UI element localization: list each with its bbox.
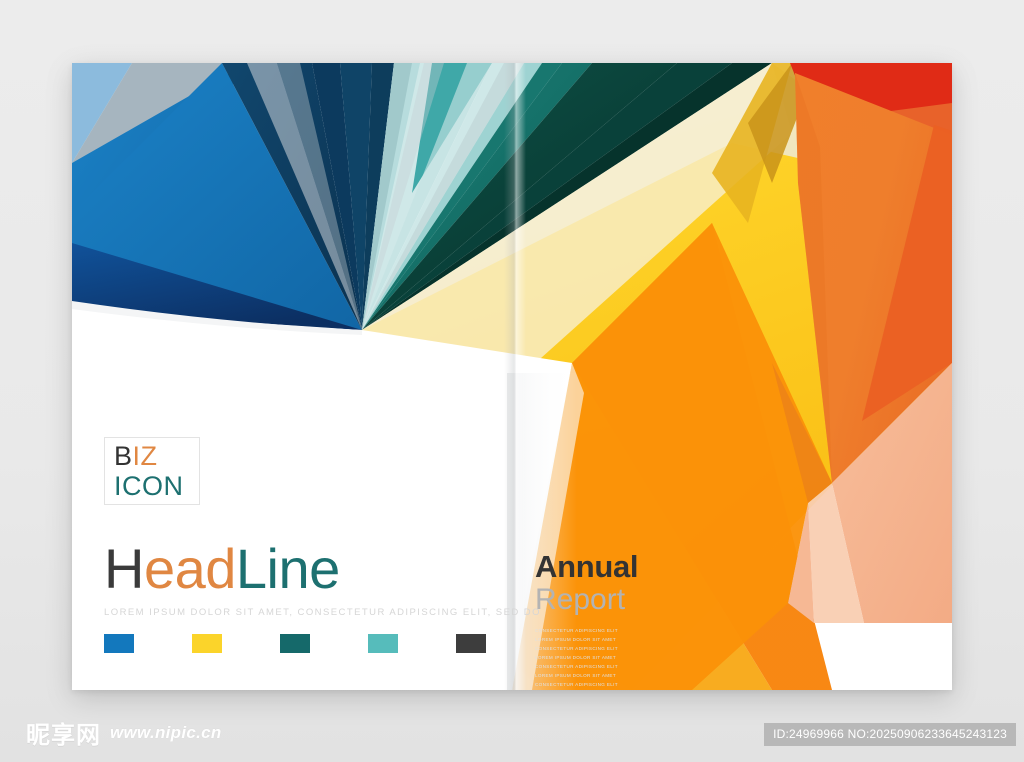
logo-line-biz: BIZ (114, 443, 158, 470)
logo-letters-iz: IZ (133, 441, 158, 471)
site-watermark: 昵享网 www.nipic.cn (26, 715, 222, 750)
swatch-light-teal[interactable] (368, 634, 398, 653)
body-line: Lorem ipsum dolor sit amet (535, 672, 865, 681)
body-line: Consectetur adipiscing elit (535, 645, 865, 654)
headline-part-line: Line (236, 537, 340, 600)
brochure-spread: BIZ ICON HeadLine Lorem ipsum dolor sit … (72, 63, 952, 690)
body-line: Consectetur adipiscing elit (535, 627, 865, 636)
biz-icon-logo[interactable]: BIZ ICON (104, 435, 214, 511)
body-line: Lorem ipsum dolor sit amet (535, 636, 865, 645)
swatch-yellow[interactable] (192, 634, 222, 653)
headline-part-ead: ead (144, 537, 236, 600)
swatch-teal[interactable] (280, 634, 310, 653)
right-page-content: Annual Report Consectetur adipiscing eli… (535, 551, 865, 690)
content-layer: BIZ ICON HeadLine Lorem ipsum dolor sit … (72, 63, 952, 690)
left-page-content: BIZ ICON HeadLine Lorem ipsum dolor sit … (104, 435, 504, 653)
body-line: Lorem ipsum dolor sit amet (535, 654, 865, 663)
color-swatch-row (104, 634, 504, 653)
body-line: Consectetur adipiscing elit (535, 663, 865, 672)
swatch-blue[interactable] (104, 634, 134, 653)
page-backdrop: BIZ ICON HeadLine Lorem ipsum dolor sit … (0, 0, 1024, 762)
headline-subtitle: Lorem ipsum dolor sit amet, consectetur … (104, 607, 504, 618)
logo-letter-b: B (114, 441, 133, 471)
report-subtitle: Report (535, 584, 865, 616)
swatch-charcoal[interactable] (456, 634, 486, 653)
logo-line-icon: ICON (114, 473, 184, 500)
headline-part-h: H (104, 537, 144, 600)
headline: HeadLine (104, 541, 504, 597)
watermark-id-badge: ID:24969966 NO:20250906233645243123 (764, 723, 1016, 746)
body-line: Consectetur adipiscing elit (535, 681, 865, 690)
watermark-url: www.nipic.cn (110, 723, 222, 743)
watermark-brand-cn: 昵享网 (26, 715, 101, 750)
placeholder-body-text: Consectetur adipiscing elit Lorem ipsum … (535, 627, 865, 690)
annual-title: Annual (535, 551, 865, 583)
